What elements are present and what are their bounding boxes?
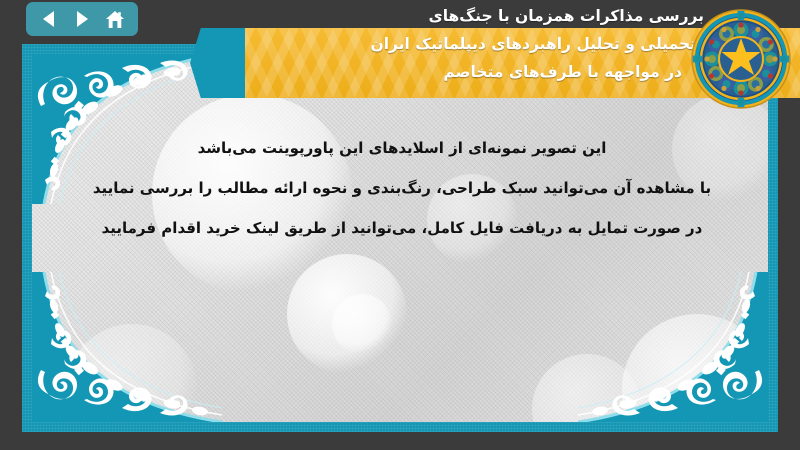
body-line-1: این تصویر نمونه‌ای از اسلایدهای این پاور…	[52, 128, 752, 168]
slide-body-text: این تصویر نمونه‌ای از اسلایدهای این پاور…	[52, 128, 752, 248]
slide-canvas: این تصویر نمونه‌ای از اسلایدهای این پاور…	[0, 0, 800, 450]
banner-pennant-arrow	[190, 28, 250, 98]
body-line-2: با مشاهده آن می‌توانید سبک طراحی، رنگ‌بن…	[52, 168, 752, 208]
body-line-3: در صورت تمایل به دریافت فایل کامل، می‌تو…	[52, 208, 752, 248]
triangle-left-icon	[41, 10, 57, 28]
triangle-right-icon	[74, 10, 90, 28]
home-icon	[105, 10, 125, 29]
home-slide-button[interactable]	[100, 6, 130, 32]
next-slide-button[interactable]	[67, 6, 97, 32]
title-gold-banner	[245, 28, 800, 98]
previous-slide-button[interactable]	[34, 6, 64, 32]
slide-navigation-bar[interactable]	[26, 2, 138, 36]
